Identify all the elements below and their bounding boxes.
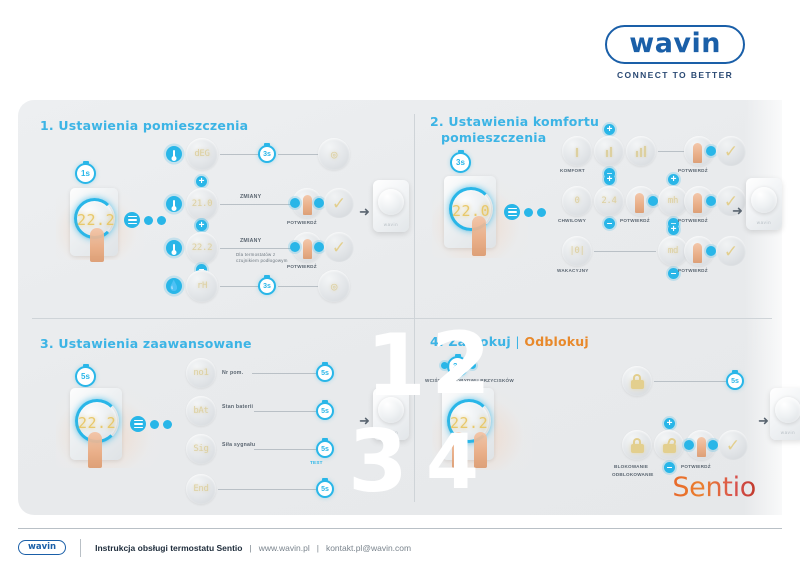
lock-connector-top: [654, 381, 728, 382]
battery-timer: 5s: [316, 402, 334, 420]
section-3-enter-badge: 5s: [75, 366, 96, 387]
footer-website[interactable]: www.wavin.pl: [259, 543, 310, 553]
lock-bubble-closed: [622, 430, 652, 460]
row-1-thermometer-icon: [166, 146, 182, 162]
battery-bubble: bAt: [186, 396, 216, 426]
thermostat-temp-display: 22.2: [77, 211, 115, 229]
row-2-changes-label: ZMIANY: [240, 194, 261, 201]
finger-icon: [693, 193, 702, 213]
finger-icon: [90, 228, 104, 262]
wavin-logo: wavin CONNECT TO BETTER: [605, 25, 745, 80]
section-3-controls[interactable]: [130, 416, 172, 432]
section-2-controls[interactable]: [504, 204, 546, 220]
lock-confirm-label: POTWIERDŹ: [681, 464, 711, 470]
room-no-connector: [252, 373, 318, 374]
battery-label: Stan baterii: [222, 404, 253, 411]
holiday-lcd-value: |0|: [569, 246, 584, 256]
section-4-title-unlock: Odblokuj: [524, 334, 589, 349]
row-4-timer-badge: 3s: [258, 277, 276, 295]
comfort-confirm-label: POTWIERDŹ: [678, 168, 708, 174]
battery-connector: [254, 411, 318, 412]
finger-icon: [303, 195, 312, 215]
room-no-bubble: no1: [186, 358, 216, 388]
row-2-thermometer-icon: [166, 196, 182, 212]
temporary-unit-lcd: mh: [668, 196, 678, 206]
result-device-knob: [775, 397, 800, 423]
comfort-mode-label: KOMFORT: [560, 168, 585, 174]
comfort-connector: [658, 151, 686, 152]
lock-confirm-left-dot: [684, 440, 694, 450]
end-connector: [218, 489, 318, 490]
comfort-level-2-bubble: [594, 136, 624, 166]
row-3-thermometer-icon: [166, 240, 182, 256]
lock-check-icon: ✓: [718, 430, 748, 460]
wavin-logo-text: wavin: [629, 30, 721, 57]
row-2-connector: [220, 204, 294, 205]
row-2-confirm-label: POTWIERDŹ: [287, 220, 317, 226]
section-1-thermostat: 22.2: [70, 188, 118, 256]
temporary-confirm2-label: POTWIERDŹ: [678, 218, 708, 224]
finger-icon: [472, 216, 486, 256]
row-2-right-dot: [314, 198, 324, 208]
footer-divider: [80, 539, 81, 557]
lock-open-icon: [663, 438, 676, 453]
holiday-confirm-label: POTWIERDŹ: [678, 268, 708, 274]
finger-icon: [693, 243, 702, 263]
section-2-enter-badge: 3s: [450, 152, 471, 173]
row-2-lcd-bubble: 21.0: [186, 188, 218, 220]
temporary-value-lcd: 2.4: [601, 196, 616, 206]
section-4-result-device: wavin: [770, 388, 800, 440]
finger-icon: [88, 432, 102, 468]
row-3-lcd-bubble: 22.2: [186, 232, 218, 264]
result-device-brand: wavin: [746, 220, 782, 225]
sentio-logo: Sentio: [672, 472, 756, 503]
lock-closed-icon: [631, 374, 644, 389]
row-3-note: Dla termostatów z czujnikiem podłogowym: [236, 252, 298, 264]
temporary-value-bubble: 2.4: [594, 186, 624, 216]
result-device-knob: [751, 187, 777, 213]
minus-button-icon[interactable]: [150, 420, 159, 429]
row-3-right-dot: [314, 242, 324, 252]
lock-closed-icon: [631, 438, 644, 453]
temporary-confirm1-label: POTWIERDŹ: [620, 218, 650, 224]
row-4-connector-2: [278, 286, 320, 287]
section-1-title: 1. Ustawienia pomieszczenia: [40, 118, 248, 134]
comfort-plus-badge: [604, 124, 615, 135]
battery-lcd: bAt: [193, 406, 208, 416]
row-2-plus-badge: [196, 176, 207, 187]
row-1-connector-2: [278, 154, 320, 155]
menu-button-icon[interactable]: [504, 204, 520, 220]
section-2-result-device: wavin: [746, 178, 782, 230]
holiday-mode-bubble: |0|: [562, 236, 592, 266]
section-2-arrow-icon: ➜: [732, 204, 743, 217]
room-no-timer: 5s: [316, 364, 334, 382]
plus-button-icon[interactable]: [163, 420, 172, 429]
menu-button-icon[interactable]: [130, 416, 146, 432]
row-3-changes-label: ZMIANY: [240, 238, 261, 245]
temporary-confirm2-dot: [706, 196, 716, 206]
temporary-minus-badge: [604, 218, 615, 229]
signal-timer: 5s: [316, 440, 334, 458]
comfort-level-1-bubble: [562, 136, 592, 166]
lock-label-line2: ODBLOKOWANIE: [612, 472, 654, 478]
level-bars-icon: [576, 146, 579, 157]
end-timer: 5s: [316, 480, 334, 498]
row-4-lcd-bubble: rH: [186, 270, 218, 302]
holiday-mode-label: WAKACYJNY: [557, 268, 589, 274]
section-4-title-separator: |: [515, 334, 519, 349]
section-2-thermostat: 22.0: [444, 176, 496, 248]
watermark-1: 1: [366, 332, 426, 401]
row-1-lcd-value: dEG: [194, 149, 209, 159]
finger-icon: [697, 437, 706, 457]
signal-label: Siła sygnału: [222, 442, 255, 449]
section-1-enter-badge: 1s: [75, 163, 96, 184]
plus-button-icon[interactable]: [157, 216, 166, 225]
holiday-plus-badge: [668, 224, 679, 235]
minus-button-icon[interactable]: [144, 216, 153, 225]
menu-button-icon[interactable]: [124, 212, 140, 228]
section-2-title-line1: 2. Ustawienia komfortu: [430, 114, 599, 129]
section-1-result-device: wavin: [373, 180, 409, 232]
row-3-lcd-value: 22.2: [192, 243, 212, 253]
finger-icon: [303, 239, 312, 259]
section-2-title-line2: pomieszczenia: [430, 130, 546, 145]
footer-pipe-2: |: [317, 543, 319, 553]
signal-lcd: Sig: [193, 444, 208, 454]
lock-bubble-open: [654, 430, 684, 460]
watermark-3: 3: [348, 428, 408, 497]
section-1-arrow-icon: ➜: [359, 205, 370, 218]
section-3-title: 3. Ustawienia zaawansowane: [40, 336, 252, 352]
section-4-arrow-icon: ➜: [758, 414, 769, 427]
temporary-mode-label: CHWILOWY: [558, 218, 586, 224]
row-1-timer-badge: 3s: [258, 145, 276, 163]
section-3-thermostat: 22.2: [70, 388, 122, 460]
row-2-check-icon: ✓: [324, 188, 354, 218]
row-4-end-bubble: ◎: [318, 270, 350, 302]
gear-icon: ◎: [331, 148, 337, 161]
row-3-connector: [220, 248, 294, 249]
comfort-check-icon: ✓: [716, 136, 746, 166]
row-2-left-dot: [290, 198, 300, 208]
temporary-plus-badge: [604, 174, 615, 185]
level-bars-icon: [606, 146, 613, 157]
lock-label-line1: BLOKOWANIE: [614, 464, 648, 470]
row-3-confirm-label: POTWIERDŹ: [287, 264, 317, 270]
gear-icon: ◎: [331, 280, 337, 293]
footer-pipe-1: |: [249, 543, 251, 553]
result-device-brand: wavin: [373, 222, 409, 227]
section-1-controls[interactable]: [124, 212, 166, 228]
signal-bubble: Sig: [186, 434, 216, 464]
finger-icon: [693, 143, 702, 163]
page-header: wavin CONNECT TO BETTER: [0, 0, 800, 100]
thermostat-temp-display: 22.0: [452, 202, 490, 220]
end-bubble: End: [186, 474, 216, 504]
lock-confirm-right-dot: [708, 440, 718, 450]
lock-plus-badge: [664, 418, 675, 429]
page-footer: wavin Instrukcja obsługi termostatu Sent…: [18, 528, 782, 558]
temporary-confirm1-dot: [648, 196, 658, 206]
room-no-label: Nr pom.: [222, 370, 243, 377]
row-4-lcd-value: rH: [197, 281, 207, 291]
finger-icon: [635, 193, 644, 213]
holiday-connector: [594, 251, 656, 252]
holiday-check-icon: ✓: [716, 236, 746, 266]
footer-wavin-logo: wavin: [18, 540, 66, 555]
temporary-plus-badge-2: [668, 174, 679, 185]
row-1-lcd-bubble: dEG: [186, 138, 218, 170]
room-no-lcd: no1: [193, 368, 208, 378]
signal-connector: [254, 449, 318, 450]
wavin-logo-pill: wavin: [605, 25, 745, 64]
result-device-brand: wavin: [770, 430, 800, 435]
section-2-comfort-settings: 2. Ustawienia komfortu pomieszczenia 3s …: [414, 100, 782, 318]
lock-timer-top: 5s: [726, 372, 744, 390]
footer-email[interactable]: kontakt.pl@wavin.com: [326, 543, 411, 553]
result-device-knob: [378, 189, 404, 215]
plus-button-icon[interactable]: [537, 208, 546, 217]
lock-bubble-top: [622, 366, 652, 396]
thermostat-temp-display: 22.2: [78, 414, 116, 432]
row-2-lcd-value: 21.0: [192, 199, 212, 209]
end-lcd: End: [193, 484, 208, 494]
wavin-tagline: CONNECT TO BETTER: [605, 70, 745, 80]
temporary-mode-bubble: 0: [562, 186, 592, 216]
temporary-lcd-value: 0: [574, 196, 579, 206]
watermark-2: 2: [431, 330, 491, 399]
signal-test-label: TEST: [310, 460, 323, 466]
level-bars-icon: [636, 146, 647, 157]
content-panel: 1. Ustawienia pomieszczenia 1s 22.2 dEG …: [18, 100, 782, 515]
holiday-confirm-dot: [706, 246, 716, 256]
section-1-room-settings: 1. Ustawienia pomieszczenia 1s 22.2 dEG …: [18, 100, 414, 318]
row-1-end-bubble: ◎: [318, 138, 350, 170]
comfort-confirm-dot: [706, 146, 716, 156]
minus-button-icon[interactable]: [524, 208, 533, 217]
row-4-droplet-icon: 💧: [166, 278, 182, 294]
row-3-left-dot: [290, 242, 300, 252]
comfort-level-3-bubble: [626, 136, 656, 166]
row-3-check-icon: ✓: [324, 232, 354, 262]
holiday-unit-lcd: md: [668, 246, 678, 256]
footer-title: Instrukcja obsługi termostatu Sentio: [95, 543, 242, 553]
watermark-4: 4: [426, 432, 479, 493]
row-3-plus-badge: [196, 220, 207, 231]
